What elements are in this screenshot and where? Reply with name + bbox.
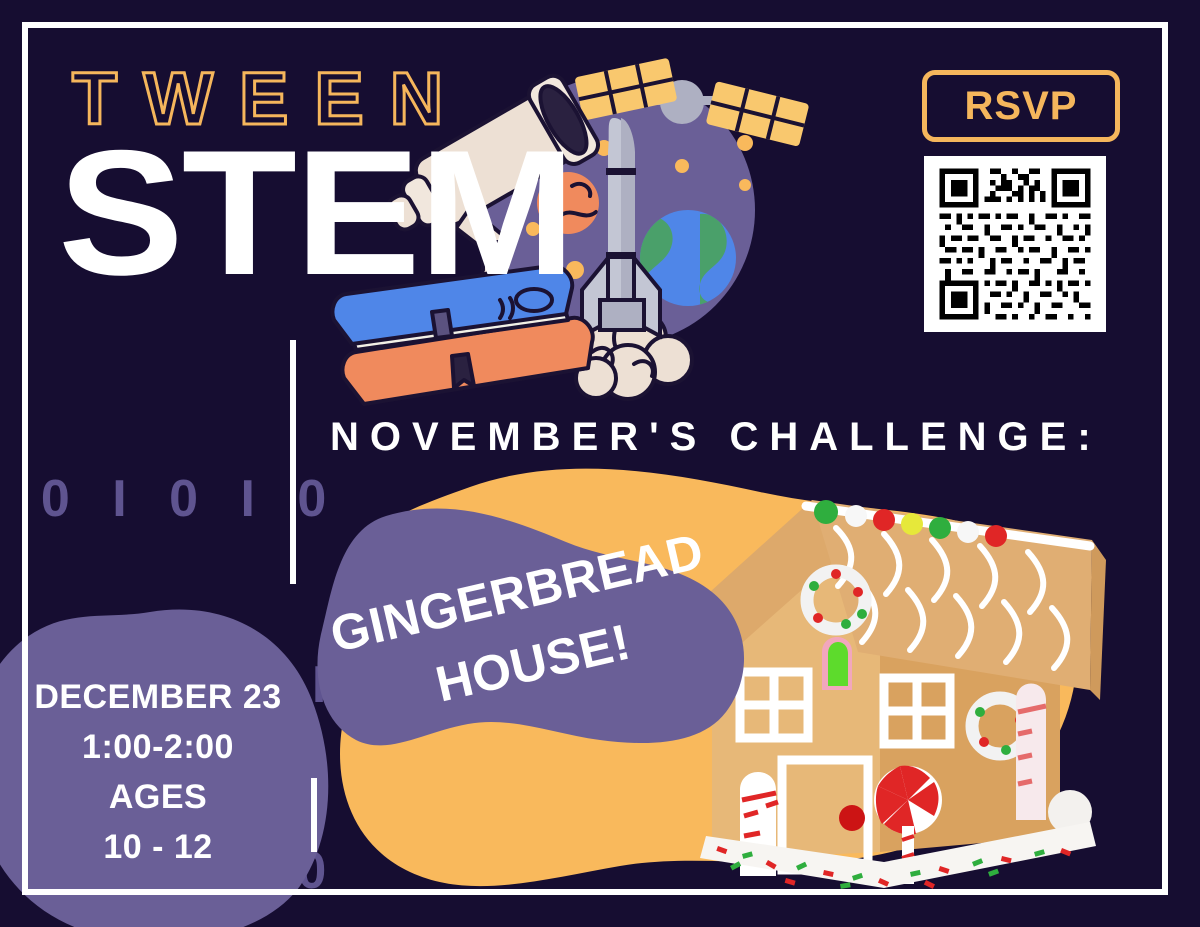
event-time: 1:00-2:00 (10, 722, 306, 772)
poster: I 0 I 0 I 0 0 I 0 I 0 I I 0 I 0 I 0 0 I … (0, 0, 1200, 927)
qr-code[interactable] (924, 156, 1106, 332)
challenge-heading: NOVEMBER'S CHALLENGE: (330, 415, 1102, 460)
rsvp-button[interactable]: RSVP (922, 70, 1120, 142)
divider-line-upper (290, 340, 296, 584)
rsvp-label: RSVP (965, 84, 1078, 129)
event-details: DECEMBER 23 1:00-2:00 AGES 10 - 12 (10, 672, 306, 872)
page-title: STEM (58, 124, 574, 302)
qr-code-icon (931, 163, 1099, 325)
ages-range: 10 - 12 (10, 822, 306, 872)
ages-label: AGES (10, 772, 306, 822)
divider-line-lower (311, 778, 317, 852)
event-date: DECEMBER 23 (10, 672, 306, 722)
